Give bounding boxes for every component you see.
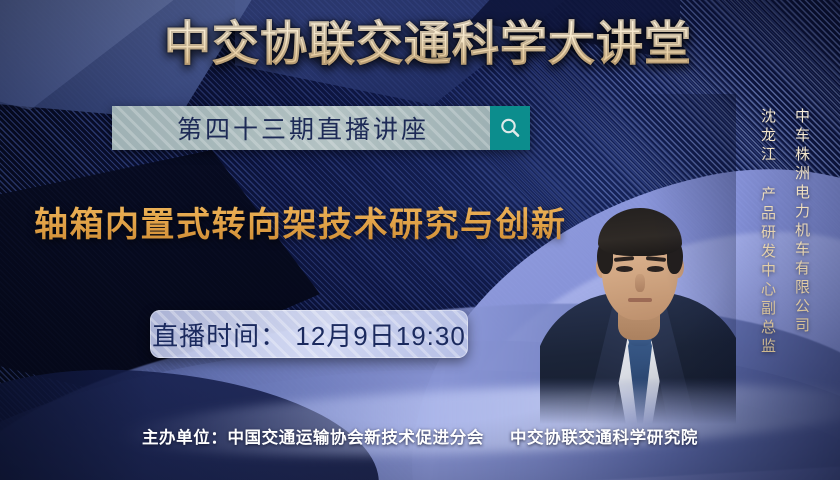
session-banner-fill: 第四十三期直播讲座 (112, 106, 490, 150)
broadcast-time-text: 直播时间： 12月9日19:30 (152, 316, 466, 353)
session-label: 第四十三期直播讲座 (173, 110, 429, 146)
speaker-name-and-role: 沈龙江 产品研发中心副总监 (757, 108, 778, 357)
footer-organizer-1: 中国交通运输协会新技术促进分会 (227, 429, 484, 447)
broadcast-time-badge: 直播时间： 12月9日19:30 (150, 310, 468, 358)
session-banner: 第四十三期直播讲座 (112, 106, 530, 150)
footer-organizer-2: 中交协联交通科学研究院 (510, 429, 698, 447)
search-button[interactable] (490, 106, 530, 150)
livestream-poster: 中交协联交通科学大讲堂 第四十三期直播讲座 轴箱内置式转向架技术研究与创新 直播… (0, 0, 840, 480)
speaker-organization: 中车株洲电力机车有限公司 (791, 108, 812, 336)
search-icon (498, 116, 522, 140)
page-title: 中交协联交通科学大讲堂 (0, 14, 840, 74)
lecture-title: 轴箱内置式转向架技术研究与创新 (34, 197, 567, 246)
footer-organizers: 主办单位：中国交通运输协会新技术促进分会中交协联交通科学研究院 (0, 424, 840, 448)
footer-organizer-label: 主办单位： (142, 429, 228, 447)
